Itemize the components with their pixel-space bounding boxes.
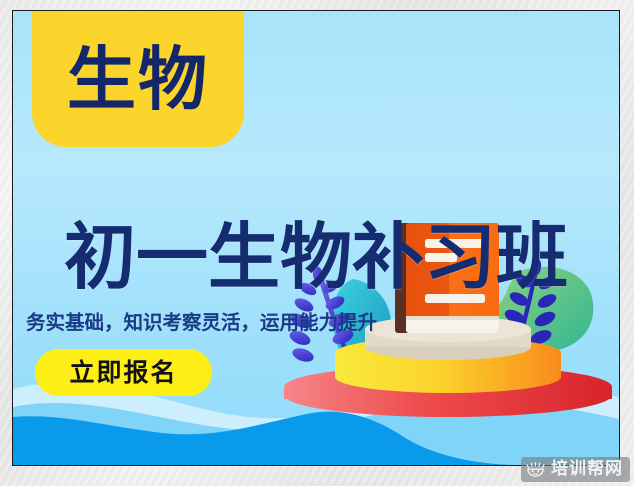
sun-face-icon: [526, 460, 545, 479]
wave-strong: [13, 412, 511, 465]
subject-badge-label: 生物: [67, 40, 209, 115]
signup-button-label: 立即报名: [69, 360, 177, 385]
watermark: 培训帮网: [521, 457, 630, 482]
subject-badge: 生物: [32, 10, 244, 147]
poster-frame: 生物 初一生物补习班 务实基础，知识考察灵活，运用能力提升 立即报名 培训帮网: [0, 0, 634, 486]
watermark-label: 培训帮网: [551, 461, 623, 478]
subtitle-text: 务实基础，知识考察灵活，运用能力提升: [26, 312, 377, 333]
signup-button[interactable]: 立即报名: [35, 349, 212, 396]
page-title: 初一生物补习班: [13, 221, 619, 293]
wave-mid: [13, 399, 619, 465]
podium-middle: [335, 337, 561, 393]
promotional-banner: 生物 初一生物补习班 务实基础，知识考察灵活，运用能力提升 立即报名: [12, 10, 620, 466]
podium-base: [284, 365, 612, 417]
podium-top: [365, 316, 531, 360]
